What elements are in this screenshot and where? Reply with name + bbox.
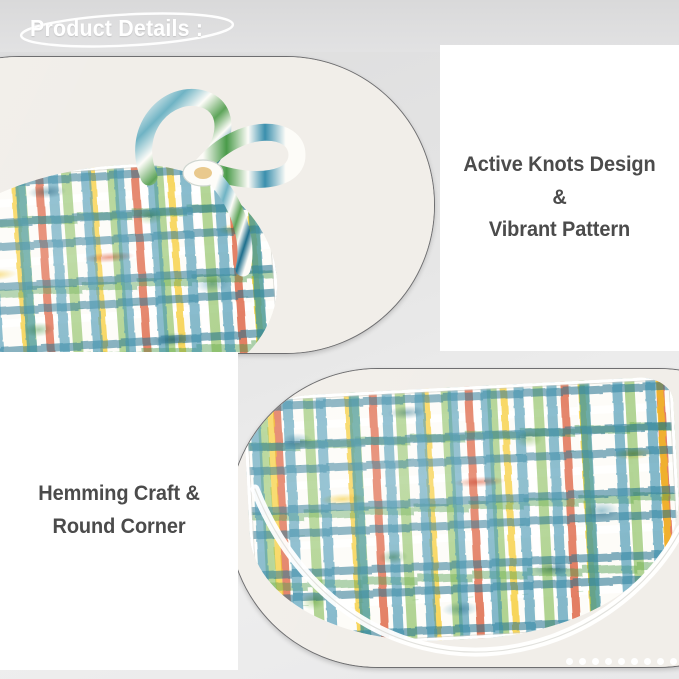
- caption-text-active-knots: Active Knots Design & Vibrant Pattern: [446, 149, 673, 247]
- tie-knot-group: [91, 69, 311, 279]
- pagination-dot[interactable]: [657, 658, 664, 665]
- title-wrap: Product Details :: [14, 9, 244, 49]
- pagination-dot[interactable]: [579, 658, 586, 665]
- product-photo-panel-top: [0, 56, 435, 354]
- tie-tail: [217, 181, 245, 269]
- pagination-dot[interactable]: [605, 658, 612, 665]
- product-photo-panel-bottom: [228, 368, 679, 668]
- hem-binding-edge: [229, 369, 679, 667]
- photo-bottom-background: [229, 369, 679, 667]
- pagination-dot[interactable]: [631, 658, 638, 665]
- caption-text-hemming-craft: Hemming Craft & Round Corner: [25, 478, 213, 543]
- product-details-infographic: Product Details :: [0, 0, 679, 679]
- pagination-dot[interactable]: [670, 658, 677, 665]
- pagination-dot[interactable]: [618, 658, 625, 665]
- pagination-dot[interactable]: [592, 658, 599, 665]
- caption-panel-left: Hemming Craft & Round Corner: [0, 352, 238, 670]
- tie-knot-highlight: [194, 167, 212, 179]
- photo-top-background: [0, 57, 434, 353]
- pagination-dots: [566, 658, 677, 665]
- page-title: Product Details :: [30, 15, 203, 42]
- caption-panel-right: Active Knots Design & Vibrant Pattern: [440, 45, 679, 351]
- pagination-dot[interactable]: [644, 658, 651, 665]
- pagination-dot[interactable]: [566, 658, 573, 665]
